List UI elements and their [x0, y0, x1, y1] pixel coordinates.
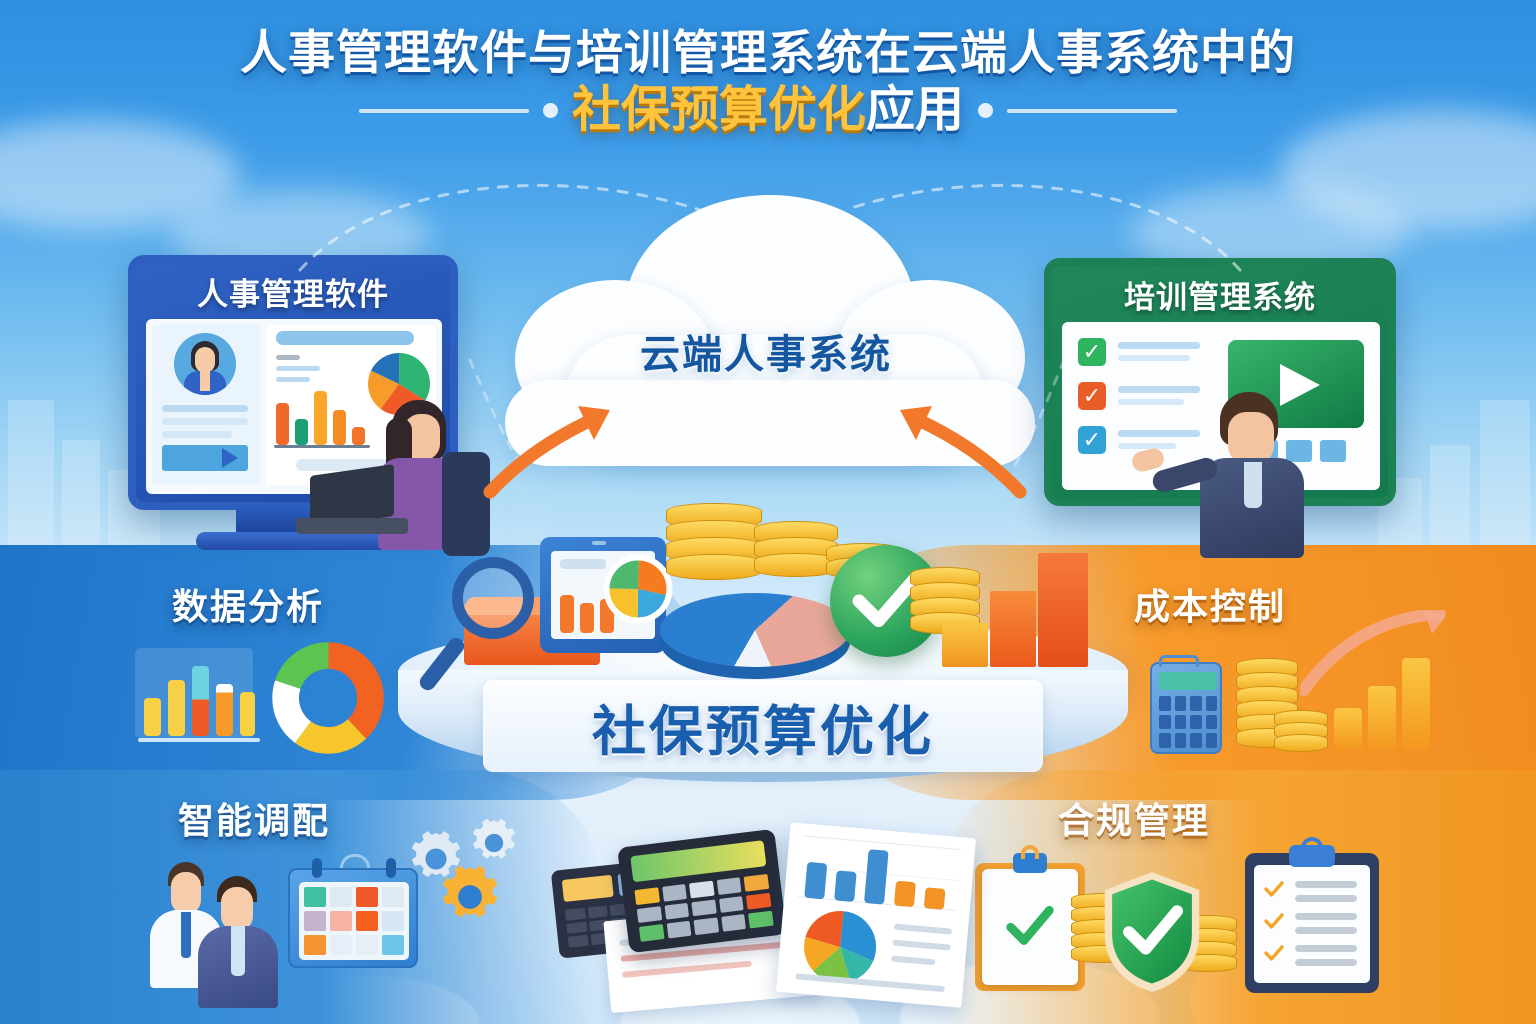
page-subtitle: 社保预算优化应用: [572, 84, 964, 138]
page-title: 人事管理软件与培训管理系统在云端人事系统中的: [0, 26, 1536, 80]
poster-title-block: 人事管理软件与培训管理系统在云端人事系统中的 社保预算优化应用: [0, 26, 1536, 138]
subtitle-rule-left: [359, 109, 529, 113]
podium-bar-1: [942, 623, 988, 667]
monitor-base: [196, 532, 392, 550]
report-bar-1: [804, 862, 827, 900]
donut-chart-data-analysis: [272, 642, 384, 754]
subtitle-dot-left: [543, 103, 558, 118]
bar-3: [192, 666, 209, 736]
gear-icon-yellow: [435, 862, 505, 932]
subtitle-highlight: 社保预算优化: [572, 83, 866, 137]
report-bar-5: [924, 887, 946, 910]
subtitle-dot-right: [978, 103, 993, 118]
calculator-icon-front: [617, 829, 787, 953]
subtitle-row: 社保预算优化应用: [0, 84, 1536, 138]
arrow-right-to-cloud: [890, 400, 1030, 500]
pie-badge-icon: [602, 553, 674, 625]
podium-bar-3: [1038, 553, 1088, 667]
calendar-icon: [288, 868, 418, 968]
check-icon-green: [999, 897, 1061, 955]
shield-check-icon: [1099, 869, 1205, 995]
infographic-poster: 人事管理软件与培训管理系统在云端人事系统中的 社保预算优化应用 数据分析 成本控…: [0, 0, 1536, 1024]
subtitle-rule-right: [1007, 109, 1177, 113]
bar-5: [240, 692, 255, 736]
bar-4: [216, 684, 233, 736]
quadrant-label-smart-scheduling: 智能调配: [178, 792, 330, 844]
report-bar-2: [834, 870, 857, 902]
quadrant-label-data-analysis: 数据分析: [172, 578, 324, 630]
podium-label-text: 社保预算优化: [483, 680, 1043, 772]
clipboard-icon: [975, 863, 1085, 991]
magnifier-icon: [452, 557, 534, 639]
calculator-icon: [1150, 662, 1222, 754]
podium-bar-2: [990, 591, 1036, 667]
dashed-connectors: [0, 150, 1536, 470]
clipboard-icon-checklist: [1245, 853, 1379, 993]
quadrant-label-cost-control: 成本控制: [1134, 578, 1286, 630]
arrow-up-icon: [1300, 610, 1450, 696]
subtitle-tail: 应用: [866, 83, 964, 137]
cost-bar-1: [1334, 708, 1362, 750]
report-sheet: [776, 822, 976, 1008]
report-bar-4: [894, 881, 916, 908]
cloud-system-label: 云端人事系统: [556, 322, 976, 380]
bar-2: [168, 680, 185, 736]
bar-1: [144, 698, 161, 736]
arrow-left-to-cloud: [480, 400, 620, 500]
